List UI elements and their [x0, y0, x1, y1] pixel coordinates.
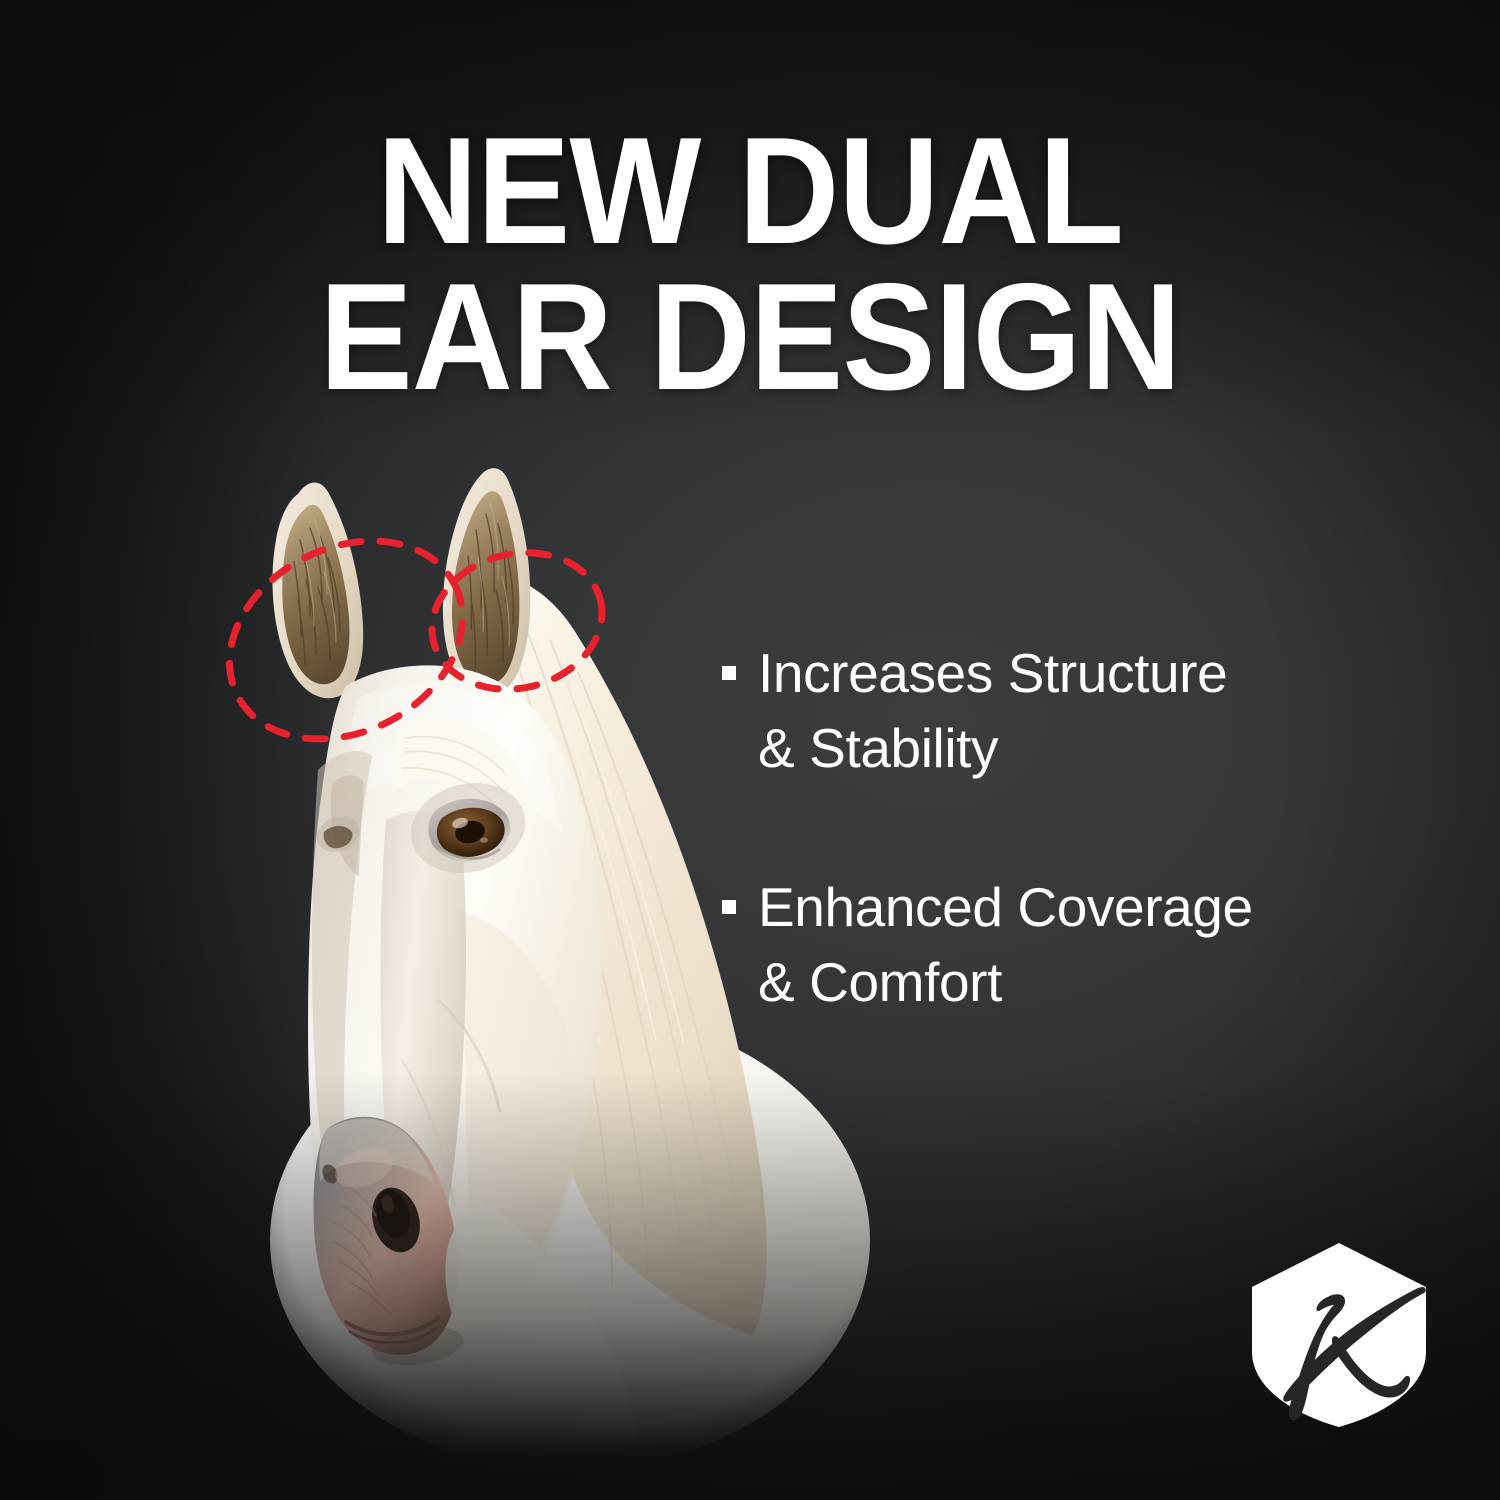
product-feature-banner: NEW DUAL EAR DESIGN Increases Structure …	[0, 0, 1500, 1500]
brand-logo	[1246, 1240, 1432, 1430]
page-title: NEW DUAL EAR DESIGN	[60, 118, 1440, 410]
feature-text: Increases Structure & Stability	[758, 636, 1227, 786]
square-bullet-icon	[722, 900, 736, 914]
feature-text-line-1: Increases Structure	[758, 636, 1227, 711]
list-item: Enhanced Coverage & Comfort	[722, 870, 1412, 1020]
square-bullet-icon	[722, 666, 736, 680]
feature-list: Increases Structure & Stability Enhanced…	[722, 636, 1412, 1020]
headline-line-1: NEW DUAL	[60, 118, 1440, 264]
list-item: Increases Structure & Stability	[722, 636, 1412, 786]
feature-text-line-2: & Comfort	[758, 945, 1253, 1020]
feature-text: Enhanced Coverage & Comfort	[758, 870, 1253, 1020]
feature-text-line-2: & Stability	[758, 711, 1227, 786]
headline-line-2: EAR DESIGN	[60, 264, 1440, 410]
feature-text-line-1: Enhanced Coverage	[758, 870, 1253, 945]
shield-icon	[1252, 1243, 1426, 1427]
